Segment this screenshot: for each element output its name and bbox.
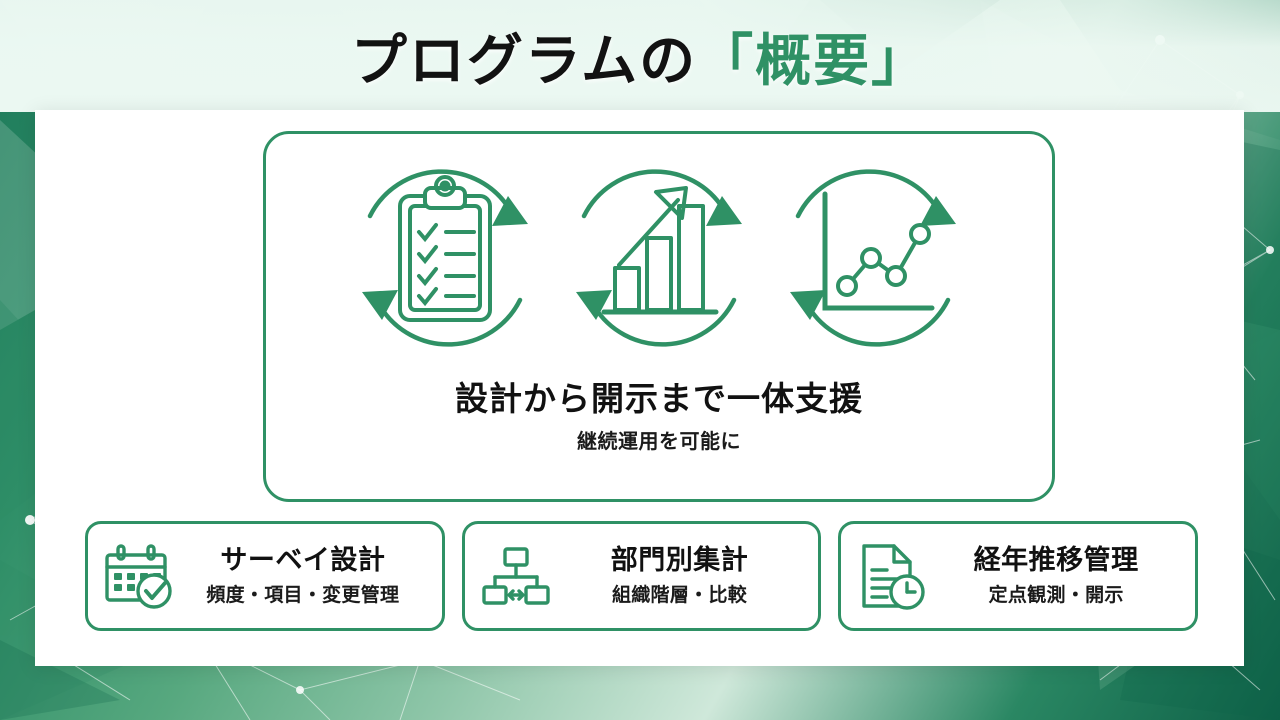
feature-card-text: 部門別集計 組織階層・比較 (553, 545, 813, 606)
feature-card-subtitle: 定点観測・開示 (929, 580, 1183, 607)
line-chart-trend-cycle-icon (750, 148, 996, 368)
feature-card-survey-design[interactable]: サーベイ設計 頻度・項目・変更管理 (85, 521, 445, 631)
flow-container: 設計から開示まで一体支援 継続運用を可能に (263, 131, 1055, 502)
org-chart-compare-icon (479, 539, 553, 613)
flow-caption-sub: 継続運用を可能に (266, 425, 1052, 454)
clipboard-checklist-cycle-icon (322, 148, 568, 368)
title-highlight: 「概要」 (697, 29, 929, 92)
feature-card-title: 経年推移管理 (974, 545, 1139, 575)
flow-caption-main: 設計から開示まで一体支援 (266, 379, 1052, 419)
feature-card-text: サーベイ設計 頻度・項目・変更管理 (176, 545, 436, 606)
page-title: プログラムの「概要」 (0, 26, 1280, 96)
calendar-check-icon (102, 539, 176, 613)
feature-card-subtitle: 組織階層・比較 (553, 580, 807, 607)
feature-card-title: サーベイ設計 (220, 545, 385, 575)
feature-card-department-aggregation[interactable]: 部門別集計 組織階層・比較 (462, 521, 822, 631)
flow-caption: 設計から開示まで一体支援 継続運用を可能に (266, 379, 1052, 454)
content-panel: 設計から開示まで一体支援 継続運用を可能に (35, 110, 1244, 666)
document-clock-icon (855, 539, 929, 613)
title-prefix: プログラムの (351, 29, 697, 92)
feature-card-title: 部門別集計 (611, 545, 749, 575)
bar-chart-growth-cycle-icon (536, 148, 782, 368)
feature-card-subtitle: 頻度・項目・変更管理 (176, 580, 430, 607)
feature-card-trend-management[interactable]: 経年推移管理 定点観測・開示 (838, 521, 1198, 631)
feature-card-text: 経年推移管理 定点観測・開示 (929, 545, 1189, 606)
feature-card-row: サーベイ設計 頻度・項目・変更管理 (85, 521, 1198, 631)
slide-root: プログラムの「概要」 (0, 0, 1280, 720)
flow-cycle-row (266, 148, 1052, 368)
